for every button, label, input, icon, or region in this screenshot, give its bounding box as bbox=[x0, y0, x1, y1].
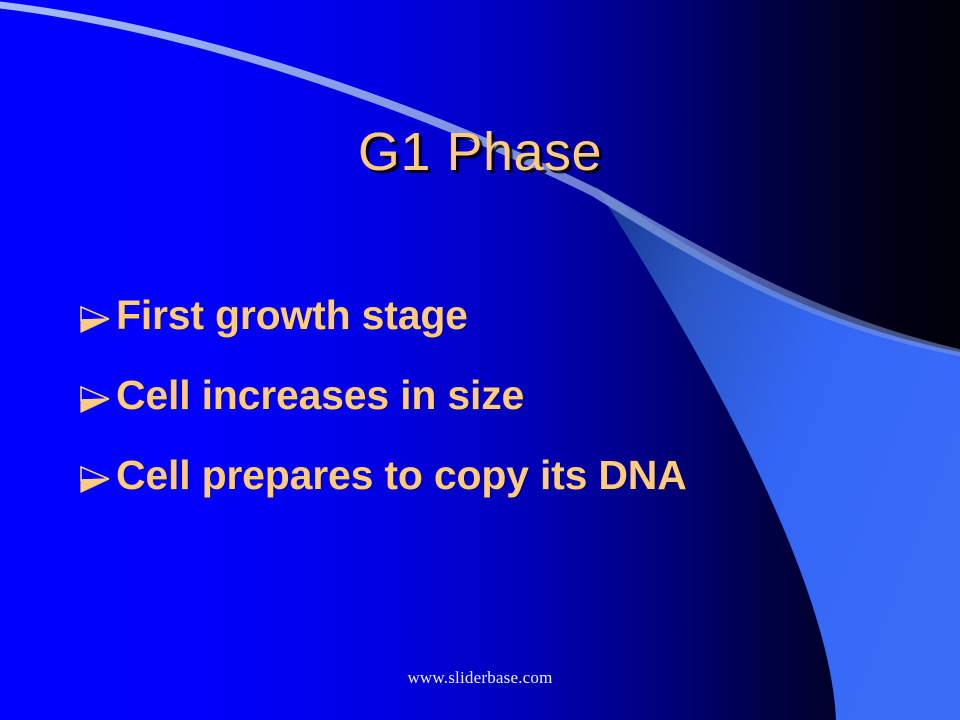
list-item: Cell prepares to copy its DNA bbox=[78, 448, 938, 528]
bullet-text: Cell prepares to copy its DNA bbox=[116, 448, 938, 502]
list-item: First growth stage bbox=[78, 288, 938, 368]
arrowhead-bullet-icon bbox=[78, 378, 116, 422]
presentation-slide: G1 Phase First growth stage Cell increas… bbox=[0, 0, 960, 720]
arrowhead-bullet-icon bbox=[78, 458, 116, 502]
slide-footer-url: www.sliderbase.com bbox=[0, 668, 960, 688]
bullet-text: First growth stage bbox=[116, 288, 938, 342]
bullet-text: Cell increases in size bbox=[116, 368, 938, 422]
slide-title: G1 Phase bbox=[0, 124, 960, 181]
arrowhead-bullet-icon bbox=[78, 298, 116, 342]
list-item: Cell increases in size bbox=[78, 368, 938, 448]
bullet-list: First growth stage Cell increases in siz… bbox=[78, 288, 938, 528]
